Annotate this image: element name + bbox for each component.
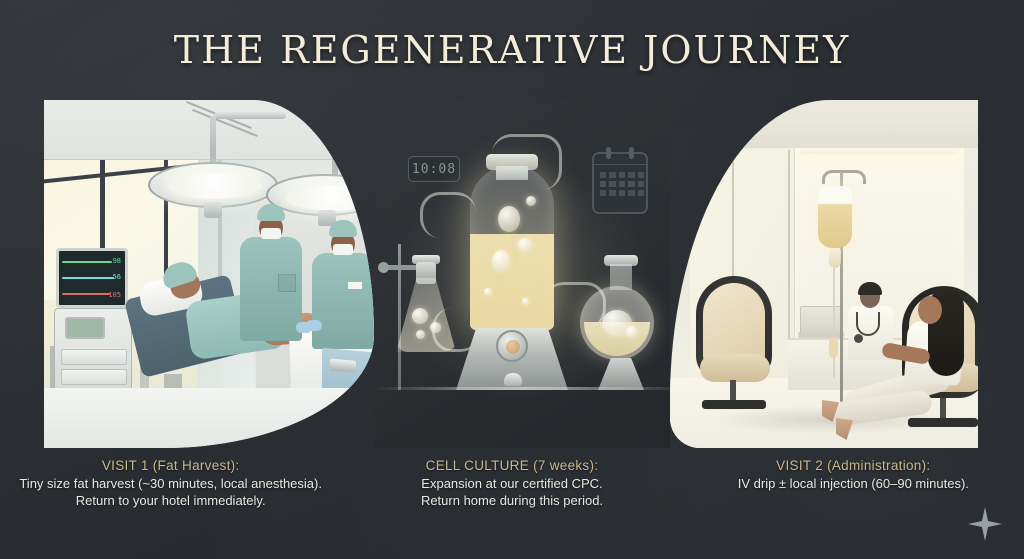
suite-ceiling [670,100,978,148]
stethoscope-icon [856,312,880,336]
laptop-base [798,332,844,338]
caption-heading: VISIT 2 (Administration): [691,458,1016,473]
caption-row: VISIT 1 (Fat Harvest): Tiny size fat har… [0,458,1024,538]
iv-drip-bag [818,186,852,248]
journey-panel-strip: 98 56 105 [44,100,978,448]
calendar-icon [592,152,648,214]
iv-drip-chamber [829,248,841,268]
iv-pole-hook [822,170,866,184]
page-title: THE REGENERATIVE JOURNEY [0,28,1024,72]
caption-heading: CELL CULTURE (7 weeks): [349,458,674,473]
lab-bench-surface [374,387,670,390]
lab-tubing [420,192,476,238]
panel-operating-room: 98 56 105 [44,100,374,448]
vitals-hr: 98 [113,257,121,265]
vitals-bp: 105 [108,291,121,299]
caption-line: Return to your hotel immediately. [8,492,333,509]
iv-roller-clamp [829,338,838,358]
vitals-monitor: 98 56 105 [56,248,128,308]
infusion-suite-scene [670,100,978,448]
sparkle-icon [968,507,1002,541]
patient-head [918,296,942,324]
digital-timer-value: 10:08 [412,162,456,177]
lab-scene: 10:08 [374,100,670,448]
caption-line: Return home during this period. [349,492,674,509]
doctor-hair [858,282,882,295]
panel-cell-culture-lab: 10:08 [374,100,670,448]
caption-line: Tiny size fat harvest (~30 minutes, loca… [8,475,333,492]
round-bottom-flask [580,286,654,360]
vitals-spo2: 56 [113,273,121,281]
laptop[interactable] [800,306,842,334]
caption-heading: VISIT 1 (Fat Harvest): [8,458,333,473]
bioreactor-vessel [470,166,554,330]
surgical-light [148,162,278,208]
lab-stand-clamp [384,265,420,270]
caption-line: IV drip ± local injection (60–90 minutes… [691,475,1016,492]
panel-infusion-suite [670,100,978,448]
operating-room-scene: 98 56 105 [44,100,374,448]
or-floor [44,388,374,448]
egg-chair-empty [696,276,772,380]
bioreactor-dial[interactable] [496,330,528,362]
caption-visit-1: VISIT 1 (Fat Harvest): Tiny size fat har… [0,458,341,538]
digital-timer-display: 10:08 [408,156,460,182]
caption-cell-culture: CELL CULTURE (7 weeks): Expansion at our… [341,458,682,538]
caption-line: Expansion at our certified CPC. [349,475,674,492]
iv-line [833,268,835,378]
bioreactor-button[interactable] [504,373,522,386]
nurse [312,220,374,349]
surgeon [240,204,302,341]
